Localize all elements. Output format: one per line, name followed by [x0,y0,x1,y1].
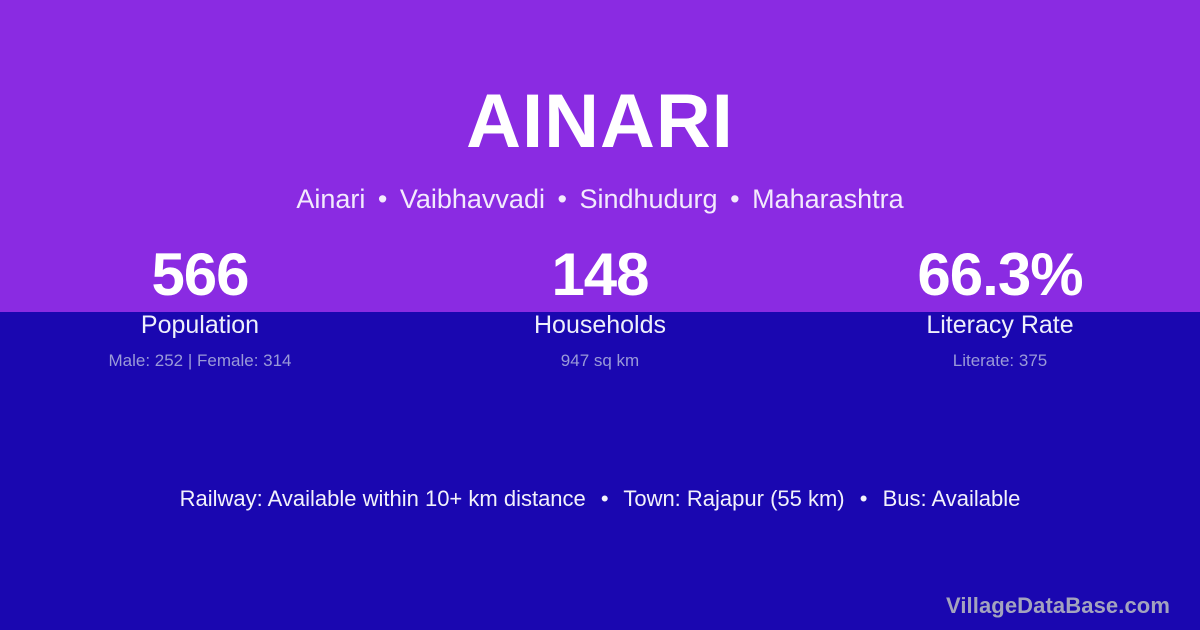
stat-population: 566 Population Male: 252 | Female: 314 [0,243,400,371]
site-branding: VillageDataBase.com [946,593,1170,619]
stat-label: Literacy Rate [800,310,1200,341]
breadcrumb-district: Sindhudurg [579,184,717,214]
stat-label: Households [400,310,800,341]
breadcrumb: Ainari • Vaibhavvadi • Sindhudurg • Maha… [0,183,1200,215]
breadcrumb-separator-icon: • [552,184,571,214]
fact-separator-icon: • [592,486,618,511]
page-title: AINARI [0,84,1200,160]
breadcrumb-state: Maharashtra [752,184,904,214]
amenities-line: Railway: Available within 10+ km distanc… [0,485,1200,514]
breadcrumb-village: Ainari [296,184,365,214]
stat-sublabel: Male: 252 | Female: 314 [0,350,400,371]
breadcrumb-separator-icon: • [725,184,744,214]
stat-sublabel: 947 sq km [400,350,800,371]
stat-households: 148 Households 947 sq km [400,243,800,371]
stat-value: 66.3% [800,243,1200,308]
stat-value: 566 [0,243,400,308]
stat-value: 148 [400,243,800,308]
stat-literacy-rate: 66.3% Literacy Rate Literate: 375 [800,243,1200,371]
fact-town: Town: Rajapur (55 km) [623,486,844,511]
card-content: AINARI Ainari • Vaibhavvadi • Sindhudurg… [0,0,1200,630]
stat-sublabel: Literate: 375 [800,350,1200,371]
breadcrumb-separator-icon: • [373,184,392,214]
breadcrumb-block: Vaibhavvadi [400,184,545,214]
stats-row: 566 Population Male: 252 | Female: 314 1… [0,243,1200,371]
fact-bus: Bus: Available [883,486,1021,511]
fact-railway: Railway: Available within 10+ km distanc… [180,486,586,511]
village-info-card: AINARI Ainari • Vaibhavvadi • Sindhudurg… [0,0,1200,630]
stat-label: Population [0,310,400,341]
fact-separator-icon: • [851,486,877,511]
